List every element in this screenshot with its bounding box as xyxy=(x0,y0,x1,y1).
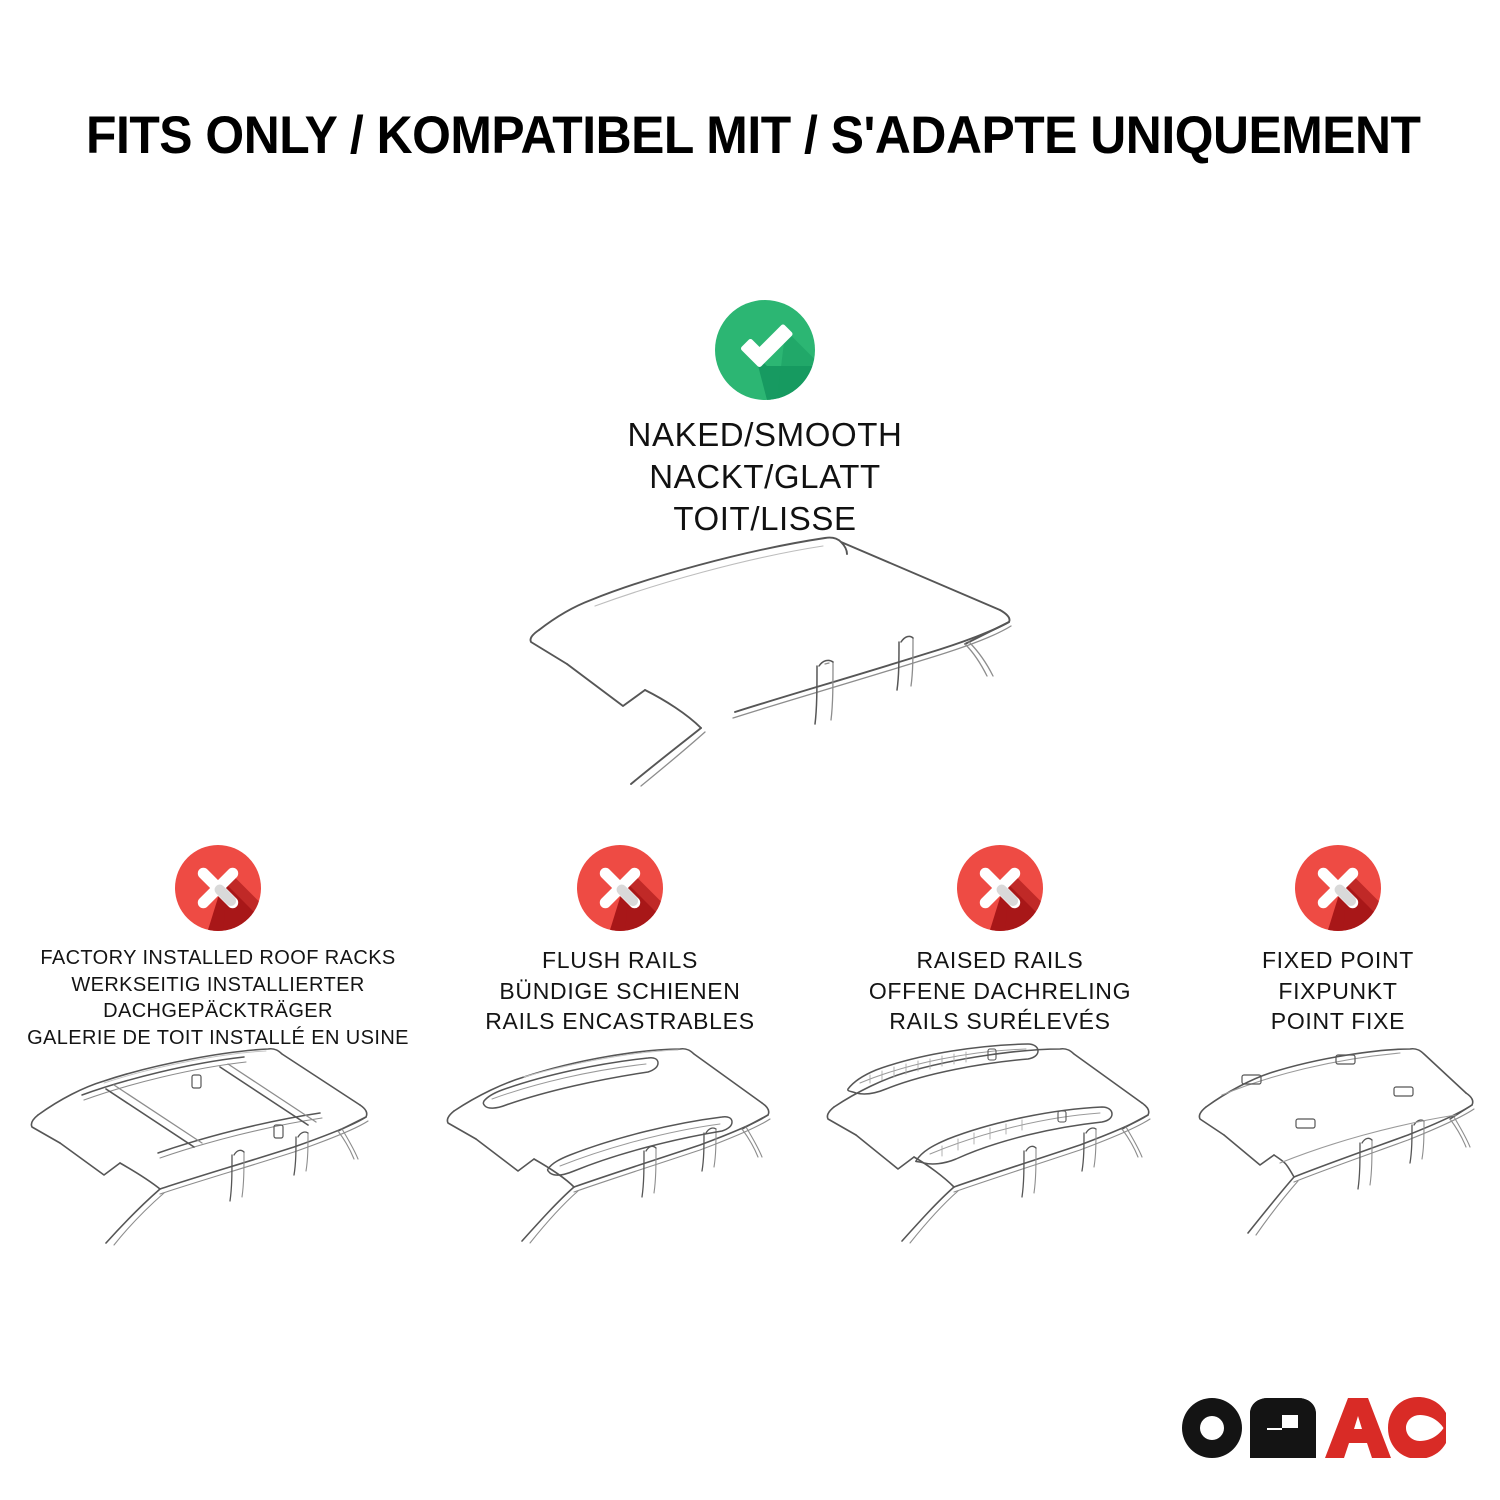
incompatible-label: FLUSH RAILS BÜNDIGE SCHIENEN RAILS ENCAS… xyxy=(432,945,808,1037)
car-roof-naked-smooth-illustration xyxy=(495,518,1055,788)
incompatible-item-factory-rack: FACTORY INSTALLED ROOF RACKS WERKSEITIG … xyxy=(8,845,428,1051)
x-circle-icon xyxy=(577,845,663,931)
x-circle-icon xyxy=(1295,845,1381,931)
car-roof-fixed-point-illustration xyxy=(1188,1041,1488,1261)
incompatible-label-line: DACHGEPÄCKTRÄGER xyxy=(8,998,428,1025)
incompatible-label-line: BÜNDIGE SCHIENEN xyxy=(432,976,808,1007)
incompatible-label-line: WERKSEITIG INSTALLIERTER xyxy=(8,972,428,999)
incompatible-label-line: FIXED POINT xyxy=(1188,945,1488,976)
incompatible-label: FACTORY INSTALLED ROOF RACKS WERKSEITIG … xyxy=(8,945,428,1051)
incompatible-label-line: FACTORY INSTALLED ROOF RACKS xyxy=(8,945,428,972)
incompatible-label: FIXED POINT FIXPUNKT POINT FIXE xyxy=(1188,945,1488,1037)
incompatible-label-line: FLUSH RAILS xyxy=(432,945,808,976)
page-title: FITS ONLY / KOMPATIBEL MIT / S'ADAPTE UN… xyxy=(86,108,1346,164)
incompatible-item-flush-rails: FLUSH RAILS BÜNDIGE SCHIENEN RAILS ENCAS… xyxy=(432,845,808,1037)
incompatible-label-line: FIXPUNKT xyxy=(1188,976,1488,1007)
x-circle-icon xyxy=(175,845,261,931)
incompatible-label-line: RAISED RAILS xyxy=(812,945,1188,976)
incompatible-label: RAISED RAILS OFFENE DACHRELING RAILS SUR… xyxy=(812,945,1188,1037)
compatible-section: NAKED/SMOOTH NACKT/GLATT TOIT/LISSE xyxy=(530,300,1000,541)
incompatible-label-line: RAILS ENCASTRABLES xyxy=(432,1006,808,1037)
compatible-label-line: NAKED/SMOOTH xyxy=(530,414,1000,456)
car-roof-raised-rails-illustration xyxy=(812,1041,1188,1261)
car-roof-factory-rack-illustration xyxy=(8,1037,428,1262)
incompatible-label-line: RAILS SURÉLEVÉS xyxy=(812,1006,1188,1037)
fitment-guide-page: FITS ONLY / KOMPATIBEL MIT / S'ADAPTE UN… xyxy=(0,0,1500,1500)
omac-logo xyxy=(1178,1396,1448,1458)
check-circle-icon xyxy=(715,300,815,400)
compatible-label-line: NACKT/GLATT xyxy=(530,456,1000,498)
x-circle-icon xyxy=(957,845,1043,931)
incompatible-item-raised-rails: RAISED RAILS OFFENE DACHRELING RAILS SUR… xyxy=(812,845,1188,1037)
incompatible-item-fixed-point: FIXED POINT FIXPUNKT POINT FIXE xyxy=(1188,845,1488,1037)
car-roof-flush-rails-illustration xyxy=(432,1041,808,1261)
incompatible-label-line: POINT FIXE xyxy=(1188,1006,1488,1037)
incompatible-label-line: OFFENE DACHRELING xyxy=(812,976,1188,1007)
incompatible-section: FACTORY INSTALLED ROOF RACKS WERKSEITIG … xyxy=(0,845,1500,1275)
